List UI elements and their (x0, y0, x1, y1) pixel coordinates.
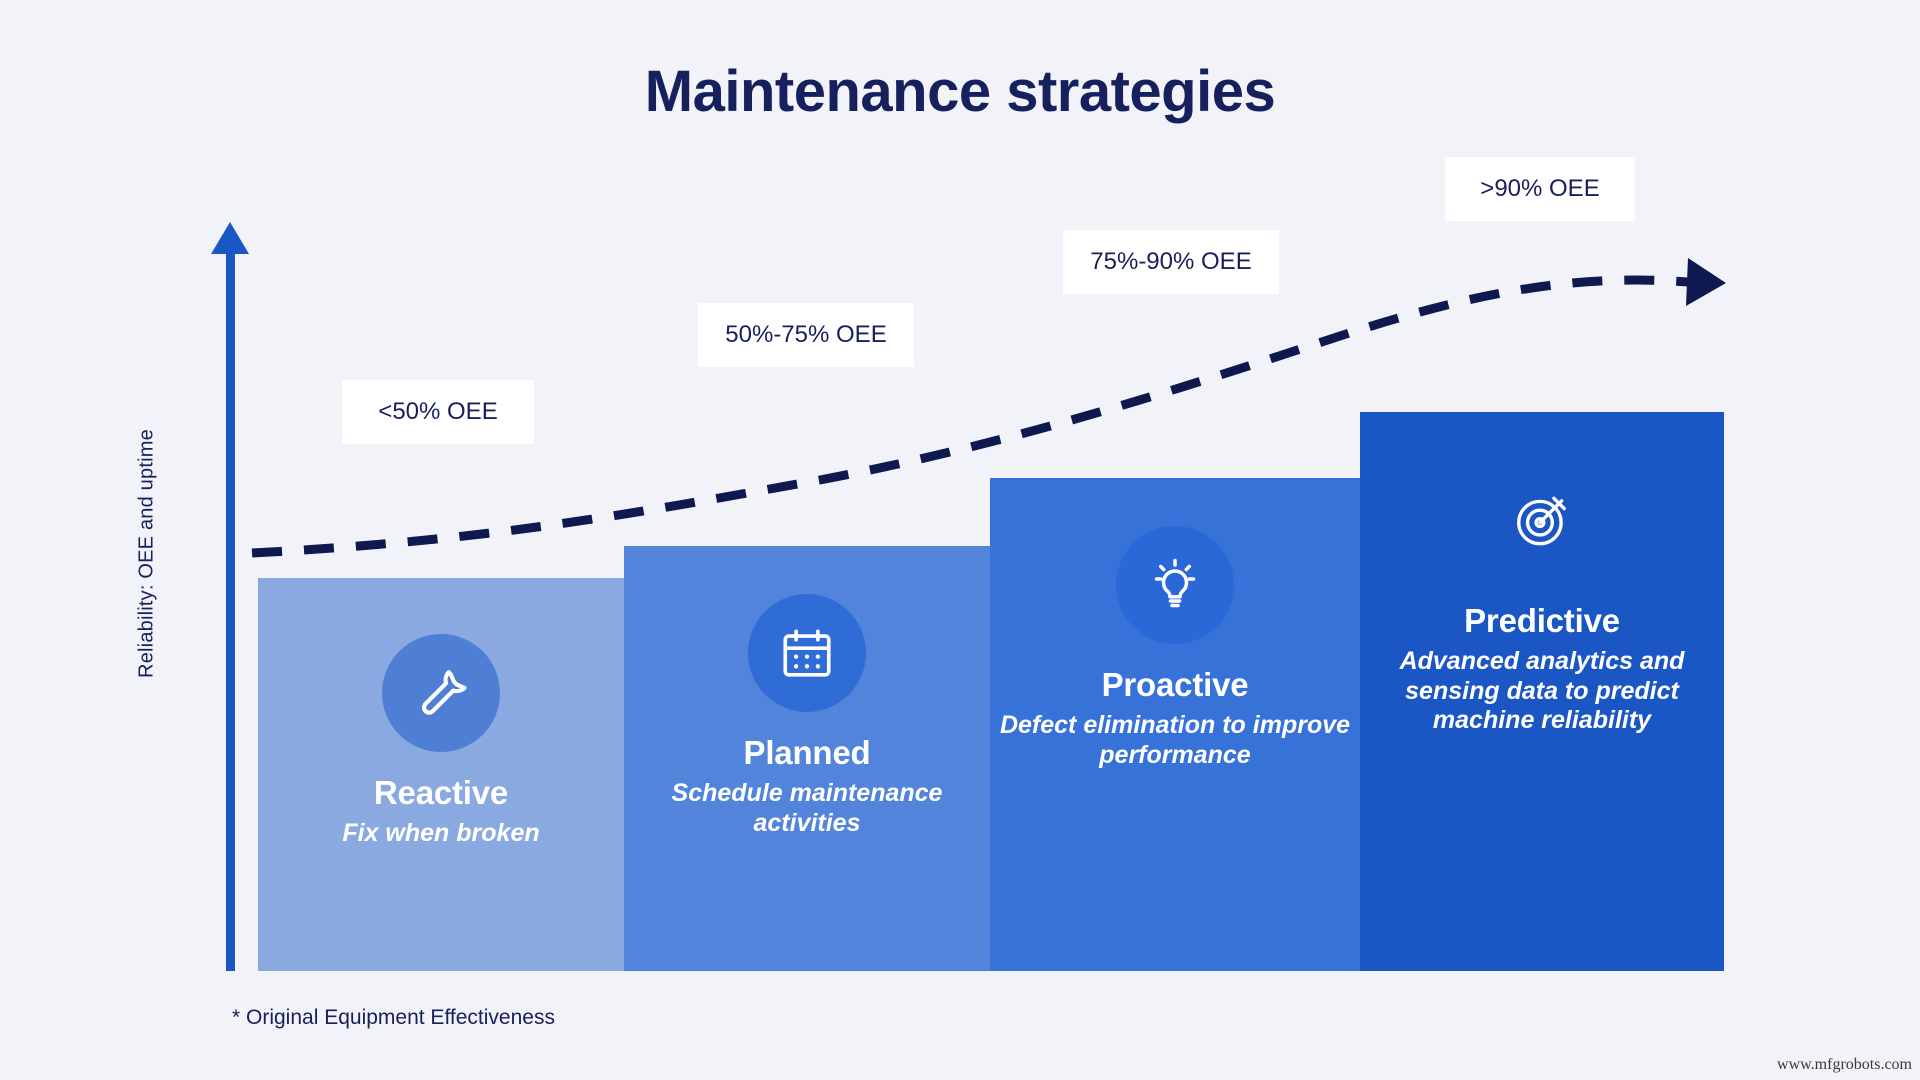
bar-description: Schedule maintenance activities (624, 779, 990, 838)
y-axis-line (226, 248, 235, 971)
bar-title: Predictive (1464, 602, 1620, 640)
oee-chip-reactive: <50% OEE (342, 380, 534, 444)
bar-predictive: Predictive Advanced analytics and sensin… (1360, 412, 1724, 971)
oee-chip-label: 50%-75% OEE (725, 321, 886, 349)
lightbulb-icon-circle (1116, 526, 1234, 644)
trend-curve-arrowhead (1686, 258, 1726, 306)
oee-chip-label: <50% OEE (378, 398, 497, 426)
bar-reactive: Reactive Fix when broken (258, 578, 624, 971)
target-icon-circle (1483, 462, 1601, 580)
oee-chip-label: 75%-90% OEE (1090, 248, 1251, 276)
watermark: www.mfgrobots.com (1777, 1056, 1912, 1074)
oee-chip-proactive: 75%-90% OEE (1063, 230, 1279, 294)
infographic-canvas: Maintenance strategies Reliability: OEE … (0, 0, 1920, 1080)
bar-planned: Planned Schedule maintenance activities (624, 546, 990, 971)
bar-description: Advanced analytics and sensing data to p… (1360, 647, 1724, 736)
oee-chip-label: >90% OEE (1480, 175, 1599, 203)
bar-title: Reactive (374, 774, 508, 812)
calendar-icon (778, 624, 836, 682)
y-axis-label: Reliability: OEE and uptime (136, 364, 159, 744)
bar-description: Fix when broken (342, 819, 539, 849)
oee-chip-planned: 50%-75% OEE (698, 303, 914, 367)
oee-chip-predictive: >90% OEE (1445, 157, 1635, 221)
calendar-icon-circle (748, 594, 866, 712)
wrench-icon (412, 664, 470, 722)
footnote: * Original Equipment Effectiveness (232, 1006, 555, 1030)
bar-title: Planned (744, 734, 871, 772)
lightbulb-icon (1145, 555, 1205, 615)
wrench-icon-circle (382, 634, 500, 752)
page-title: Maintenance strategies (0, 58, 1920, 125)
bar-proactive: Proactive Defect elimination to improve … (990, 478, 1360, 971)
target-icon (1511, 490, 1573, 552)
bar-description: Defect elimination to improve performanc… (990, 711, 1360, 770)
bar-title: Proactive (1102, 666, 1249, 704)
